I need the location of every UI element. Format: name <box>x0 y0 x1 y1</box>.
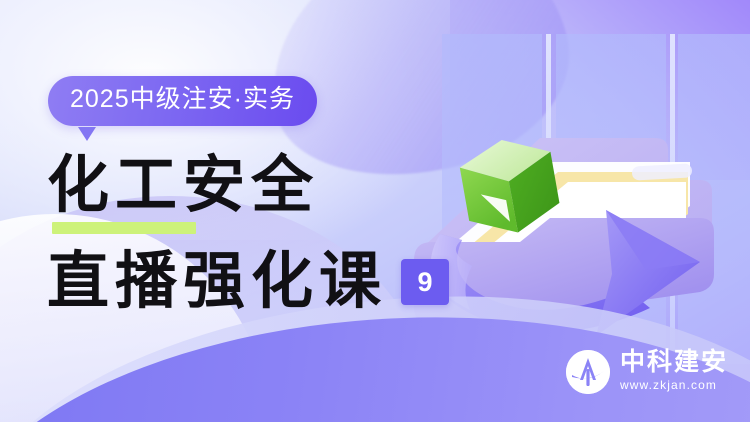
headline-line-1: 化工安全 <box>47 148 467 224</box>
background-panel-divider-1 <box>546 34 551 364</box>
course-tag-pill: 2025中级注安·实务 <box>48 76 317 126</box>
background-panel-divider-2 <box>670 34 675 364</box>
background-panel-right <box>678 34 750 364</box>
course-tag-label: 2025中级注安·实务 <box>70 85 295 113</box>
headline-line-2: 直播强化课 <box>47 244 387 320</box>
zkjan-circle-mark-icon <box>566 350 610 394</box>
headline-row-2: 直播强化课 9 <box>47 244 467 320</box>
brand-url: www.zkjan.com <box>620 376 728 394</box>
brand-logo: 中科建安 www.zkjan.com <box>566 349 728 394</box>
brand-logo-text: 中科建安 www.zkjan.com <box>620 349 728 394</box>
headline-block: 化工安全 直播强化课 9 <box>47 148 467 320</box>
background-panel-middle <box>556 34 666 364</box>
brand-name: 中科建安 <box>620 349 728 376</box>
headline-row-1: 化工安全 <box>47 148 467 224</box>
course-poster: 2025中级注安·实务 化工安全 直播强化课 9 中科建安 www.zkjan.… <box>0 0 750 422</box>
logo-mark-svg <box>566 350 610 394</box>
course-tag-tail <box>78 127 96 141</box>
background-right-fade <box>450 0 750 180</box>
episode-badge: 9 <box>401 259 449 305</box>
